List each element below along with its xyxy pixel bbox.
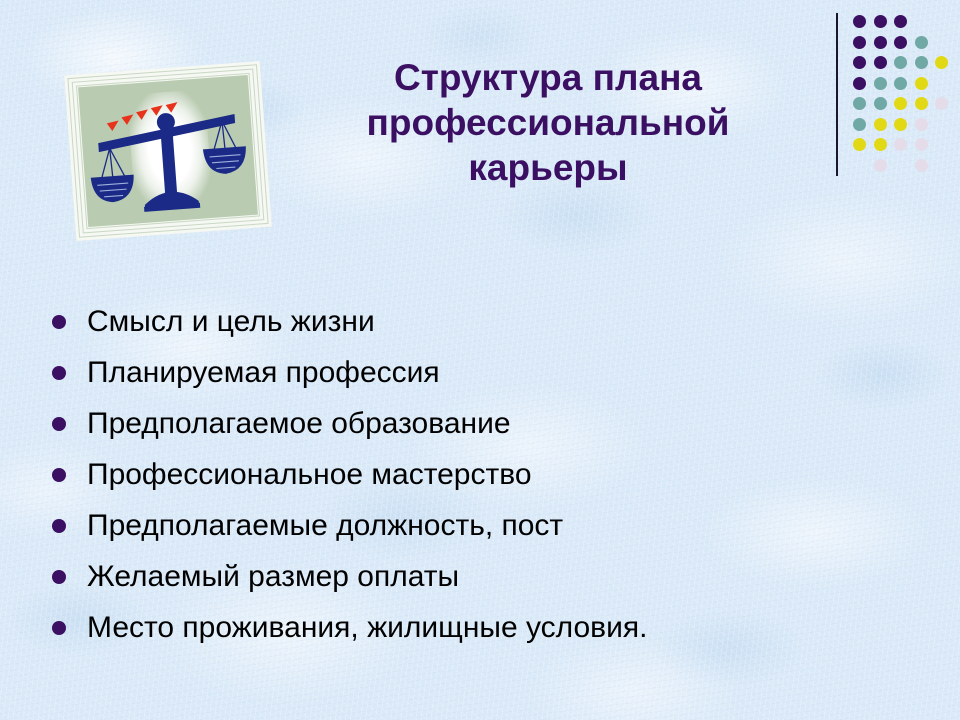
grid-dot-pale [894, 138, 907, 151]
grid-dot-teal [874, 97, 887, 110]
title-line-3: карьеры [288, 145, 808, 190]
grid-dot-teal [894, 56, 907, 69]
grid-dot-yellow [874, 118, 887, 131]
grid-dot-teal [915, 36, 928, 49]
grid-dot-pale [874, 159, 887, 172]
grid-dot-purple [853, 15, 866, 28]
grid-dot-purple [874, 56, 887, 69]
list-item: Место проживания, жилищные условия. [52, 602, 932, 653]
list-item: Смысл и цель жизни [52, 296, 932, 347]
list-item-label: Планируемая профессия [87, 356, 932, 390]
grid-dot-purple [894, 36, 907, 49]
grid-dot-purple [853, 56, 866, 69]
grid-dot-yellow [874, 138, 887, 151]
list-item-label: Желаемый размер оплаты [87, 560, 932, 594]
title-line-1: Структура плана [288, 55, 808, 100]
list-item: Желаемый размер оплаты [52, 551, 932, 602]
list-item-label: Смысл и цель жизни [87, 305, 932, 339]
grid-dot-pale [915, 118, 928, 131]
bullet-marker-icon [52, 570, 66, 584]
grid-dot-purple [874, 36, 887, 49]
picture-mat [78, 75, 258, 227]
bullet-marker-icon [52, 366, 66, 380]
grid-dot-purple [894, 15, 907, 28]
vertical-rule [836, 13, 838, 176]
presentation-slide: Структура плана профессиональной карьеры… [0, 0, 960, 720]
list-item-label: Профессиональное мастерство [87, 458, 932, 492]
list-item: Профессиональное мастерство [52, 449, 932, 500]
grid-dot-teal [853, 97, 866, 110]
list-item-label: Предполагаемое образование [87, 407, 932, 441]
bullet-marker-icon [52, 468, 66, 482]
grid-dot-yellow [935, 56, 948, 69]
bullet-marker-icon [52, 519, 66, 533]
scale-pan-right [203, 146, 248, 175]
decorative-dot-grid [830, 0, 960, 180]
grid-dot-yellow [894, 97, 907, 110]
grid-dot-teal [894, 77, 907, 90]
scales-of-justice-picture [64, 61, 272, 241]
grid-dot-yellow [915, 77, 928, 90]
scale-pan-left [91, 175, 136, 204]
grid-dot-teal [874, 77, 887, 90]
grid-dot-pale [935, 97, 948, 110]
list-item: Предполагаемые должность, пост [52, 500, 932, 551]
title-line-2: профессиональной [288, 100, 808, 145]
bullet-list: Смысл и цель жизни Планируемая профессия… [52, 296, 932, 653]
bullet-marker-icon [52, 417, 66, 431]
list-item-label: Место проживания, жилищные условия. [87, 611, 932, 645]
grid-dot-purple [874, 15, 887, 28]
grid-dot-pale [915, 159, 928, 172]
grid-dot-teal [915, 56, 928, 69]
balance-scale-icon [78, 75, 258, 227]
list-item: Предполагаемое образование [52, 398, 932, 449]
list-item: Планируемая профессия [52, 347, 932, 398]
bullet-marker-icon [52, 315, 66, 329]
bullet-marker-icon [52, 621, 66, 635]
grid-dot-teal [853, 118, 866, 131]
grid-dot-yellow [894, 118, 907, 131]
grid-dot-yellow [915, 97, 928, 110]
grid-dot-purple [853, 77, 866, 90]
page-title: Структура плана профессиональной карьеры [288, 55, 808, 190]
grid-dot-purple [853, 36, 866, 49]
grid-dot-pale [915, 138, 928, 151]
list-item-label: Предполагаемые должность, пост [87, 509, 932, 543]
grid-dot-yellow [853, 138, 866, 151]
